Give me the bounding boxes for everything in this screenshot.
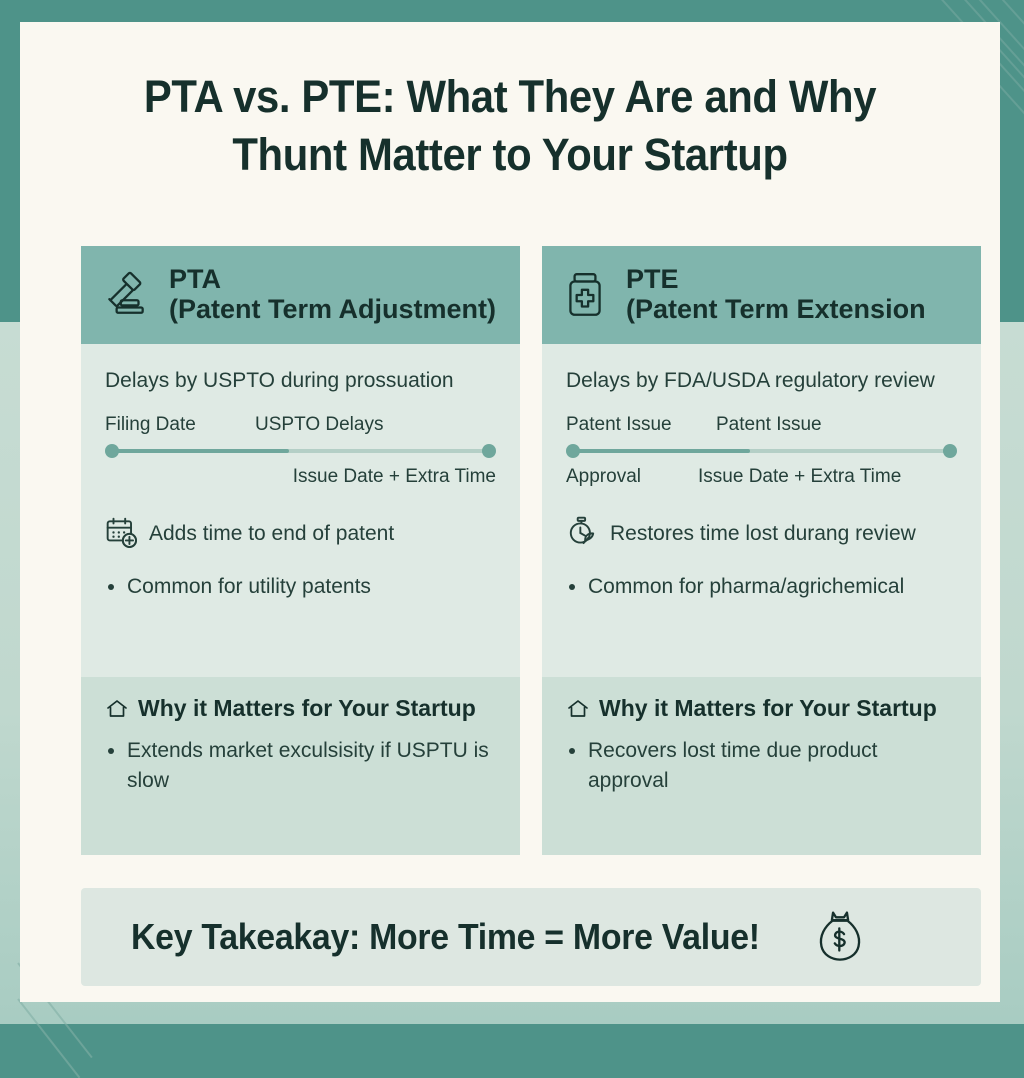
card-pta-header: PTA (Patent Term Adjustment) — [81, 246, 520, 344]
card-pte-footer-heading: Why it Matters for Your Startup — [599, 695, 937, 722]
timeline-fill — [574, 449, 750, 453]
timeline-dot-start — [566, 444, 580, 458]
card-pte-footer: Why it Matters for Your Startup Recovers… — [542, 677, 981, 855]
timeline-label-bottom-right: Issue Date + Extra Time — [698, 466, 901, 488]
card-pte-bullets: Common for pharma/agrichemical — [566, 572, 957, 602]
timeline-label-bottom-right: Issue Date + Extra Time — [293, 466, 496, 488]
home-icon — [566, 697, 590, 721]
card-pte-highlight: Restores time lost durang review — [566, 516, 957, 550]
page-canvas: PTA vs. PTE: What They Are and Why Thunt… — [20, 22, 1000, 1002]
card-pte-timeline: Patent Issue Patent Issue Approval Issue… — [566, 414, 957, 488]
card-pta-abbr: PTA — [169, 265, 496, 294]
gavel-icon — [101, 270, 151, 320]
list-item: Extends market exculsisity if USPTU is s… — [127, 736, 496, 797]
card-pte-header: PTE (Patent Term Extension — [542, 246, 981, 344]
card-pte-body: Delays by FDA/USDA regulatory review Pat… — [542, 344, 981, 677]
timeline-label-top-right: USPTO Delays — [255, 414, 383, 436]
card-pta-bullets: Common for utility patents — [105, 572, 496, 602]
card-pte-highlight-text: Restores time lost durang review — [610, 516, 916, 547]
key-takeaway-banner: Key Takeakay: More Time = More Value! — [81, 888, 981, 986]
list-item: Common for utility patents — [127, 572, 496, 602]
card-pta-fullname: (Patent Term Adjustment) — [169, 294, 496, 325]
card-pta-footer: Why it Matters for Your Startup Extends … — [81, 677, 520, 855]
card-pte-footer-bullets: Recovers lost time due product approval — [566, 736, 957, 797]
card-pte-description: Delays by FDA/USDA regulatory review — [566, 366, 957, 396]
card-pta: PTA (Patent Term Adjustment) Delays by U… — [81, 246, 520, 855]
timeline-dot-end — [482, 444, 496, 458]
medicine-bottle-icon — [562, 270, 608, 320]
card-pta-footer-heading: Why it Matters for Your Startup — [138, 695, 476, 722]
stopwatch-leaf-icon — [566, 516, 600, 550]
key-takeaway-text: Key Takeakay: More Time = More Value! — [131, 916, 760, 958]
timeline-bar — [105, 444, 496, 458]
timeline-label-top-left: Filing Date — [105, 414, 255, 436]
timeline-dot-end — [943, 444, 957, 458]
timeline-bar — [566, 444, 957, 458]
card-pta-description: Delays by USPTO during prossuation — [105, 366, 496, 396]
timeline-fill — [113, 449, 289, 453]
timeline-label-bottom-left: Approval — [566, 466, 698, 488]
card-pta-highlight-text: Adds time to end of patent — [149, 516, 394, 547]
page-title: PTA vs. PTE: What They Are and Why Thunt… — [92, 68, 929, 183]
card-pta-footer-bullets: Extends market exculsisity if USPTU is s… — [105, 736, 496, 797]
card-pta-body: Delays by USPTO during prossuation Filin… — [81, 344, 520, 677]
list-item: Recovers lost time due product approval — [588, 736, 957, 797]
card-pta-timeline: Filing Date USPTO Delays Issue Date + Ex… — [105, 414, 496, 488]
home-icon — [105, 697, 129, 721]
timeline-dot-start — [105, 444, 119, 458]
list-item: Common for pharma/agrichemical — [588, 572, 957, 602]
card-pta-highlight: Adds time to end of patent — [105, 516, 496, 550]
comparison-cards: PTA (Patent Term Adjustment) Delays by U… — [81, 246, 981, 855]
card-pte: PTE (Patent Term Extension Delays by FDA… — [542, 246, 981, 855]
card-pte-abbr: PTE — [626, 265, 926, 294]
timeline-label-top-right: Patent Issue — [716, 414, 822, 436]
calendar-plus-icon — [105, 516, 139, 550]
card-pte-fullname: (Patent Term Extension — [626, 294, 926, 325]
timeline-label-top-left: Patent Issue — [566, 414, 716, 436]
money-bag-icon — [814, 908, 866, 966]
